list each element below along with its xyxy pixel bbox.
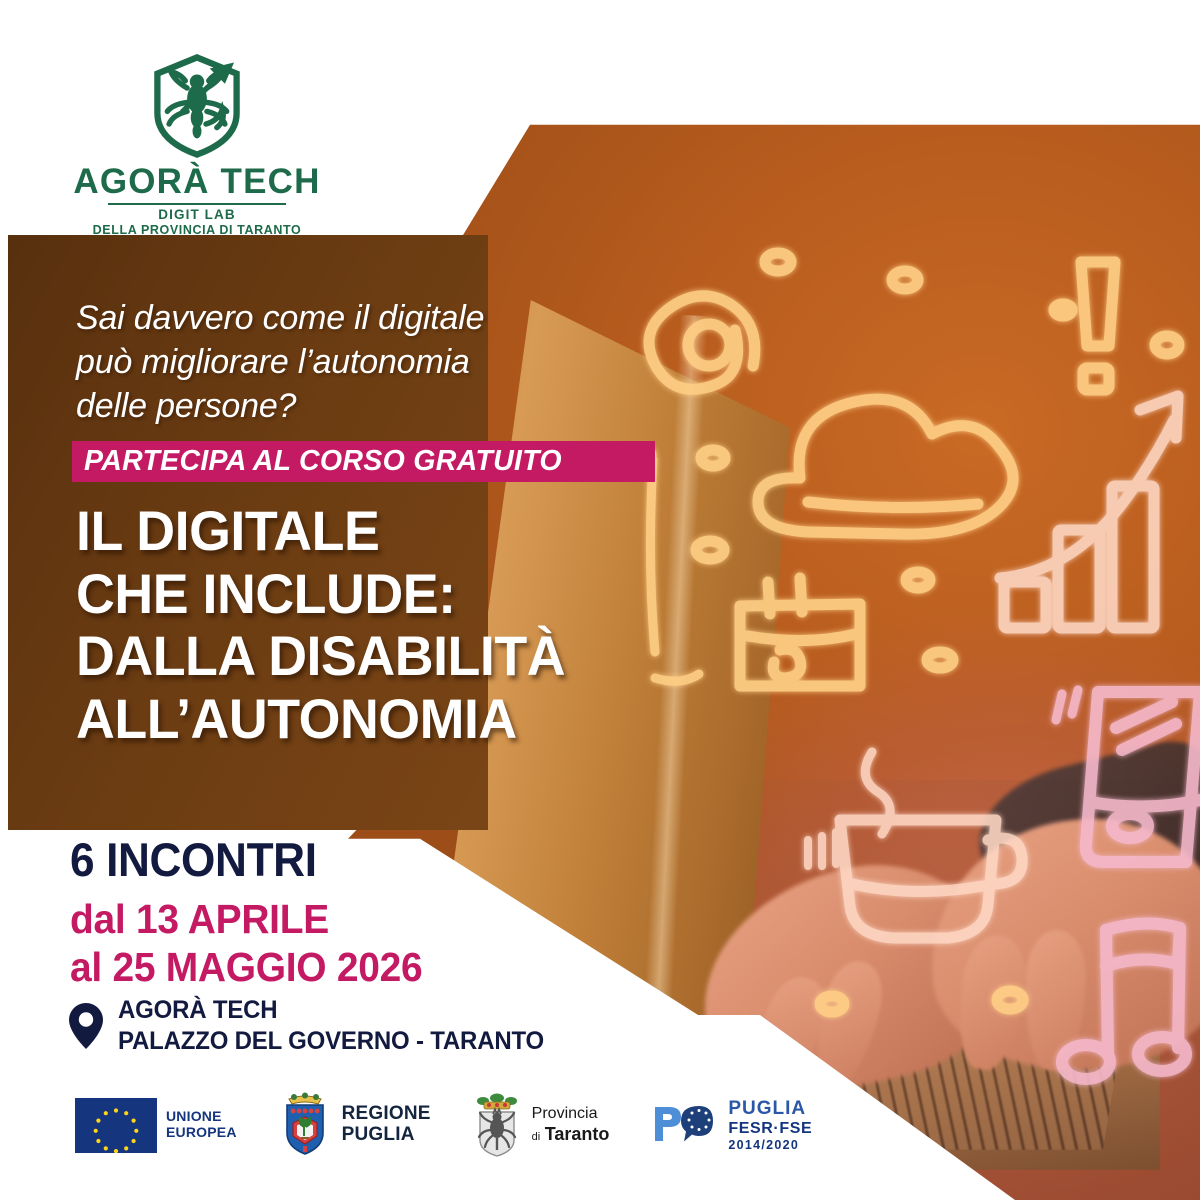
po-line-2: FESR·FSE: [728, 1120, 812, 1138]
provincia-label: Provincia di Taranto: [532, 1105, 610, 1145]
tagline-line-2: può migliorare l’autonomia: [76, 340, 676, 384]
venue-text: AGORÀ TECH PALAZZO DEL GOVERNO - TARANTO: [118, 995, 544, 1056]
map-pin-icon: [68, 1002, 104, 1050]
logo-wordmark: AGORÀ TECH: [72, 164, 322, 199]
venue: AGORÀ TECH PALAZZO DEL GOVERNO - TARANTO: [68, 995, 562, 1056]
date-to: al 25 MAGGIO 2026: [70, 943, 422, 991]
regione-puglia-logo: REGIONE PUGLIA: [277, 1092, 431, 1158]
shield-scorpion-arrow-icon: [143, 52, 251, 160]
agora-tech-logo: AGORÀ TECH DIGIT LAB DELLA PROVINCIA DI …: [72, 52, 322, 238]
ribbon-label: PARTECIPA AL CORSO GRATUITO: [72, 445, 562, 478]
po-line-3: 2014/2020: [728, 1138, 812, 1152]
provincia-taranto-logo: Provincia di Taranto: [471, 1092, 610, 1158]
venue-line-2: PALAZZO DEL GOVERNO - TARANTO: [118, 1026, 544, 1057]
provincia-line-1: Provincia: [532, 1105, 610, 1123]
po-puglia-logo: PUGLIA FESR·FSE 2014/2020: [649, 1097, 812, 1153]
meetings-count: 6 INCONTRI: [70, 836, 317, 883]
title-line-3: DALLA DISABILITÀ: [76, 625, 690, 688]
eu-line-2: EUROPEA: [166, 1125, 237, 1141]
regione-line-1: REGIONE: [342, 1104, 431, 1125]
footer-logos: UNIONE EUROPEA REGIONE: [75, 1092, 812, 1158]
title-line-4: ALL’AUTONOMIA: [76, 688, 690, 751]
title-line-1: IL DIGITALE: [76, 500, 690, 563]
eu-label: UNIONE EUROPEA: [166, 1109, 237, 1140]
page-title: IL DIGITALE CHE INCLUDE: DALLA DISABILIT…: [76, 500, 690, 751]
eu-line-1: UNIONE: [166, 1109, 237, 1125]
date-from: dal 13 APRILE: [70, 895, 422, 943]
event-dates: dal 13 APRILE al 25 MAGGIO 2026: [70, 895, 422, 992]
provincia-line-2-wrap: di Taranto: [532, 1124, 610, 1145]
tagline: Sai davvero come il digitale può miglior…: [76, 296, 676, 429]
provincia-taranto-crest-icon: [471, 1092, 523, 1158]
free-course-ribbon: PARTECIPA AL CORSO GRATUITO: [72, 441, 655, 482]
regione-puglia-crest-icon: [277, 1092, 333, 1158]
tagline-line-3: delle persone?: [76, 384, 676, 428]
logo-subtitle-1: DIGIT LAB: [72, 208, 322, 223]
logo-divider: [108, 203, 286, 205]
eu-flag-icon: [75, 1098, 157, 1153]
regione-line-2: PUGLIA: [342, 1125, 431, 1146]
po-line-1: PUGLIA: [728, 1098, 812, 1119]
tagline-line-1: Sai davvero come il digitale: [76, 296, 676, 340]
po-puglia-logo-icon: [649, 1097, 719, 1153]
poster-canvas: AGORÀ TECH DIGIT LAB DELLA PROVINCIA DI …: [0, 0, 1200, 1200]
title-line-2: CHE INCLUDE:: [76, 563, 690, 626]
venue-line-1: AGORÀ TECH: [118, 995, 544, 1026]
eu-logo: UNIONE EUROPEA: [75, 1098, 237, 1153]
po-label: PUGLIA FESR·FSE 2014/2020: [728, 1098, 812, 1151]
regione-label: REGIONE PUGLIA: [342, 1104, 431, 1146]
provincia-line-2: Taranto: [545, 1124, 610, 1144]
provincia-di: di: [532, 1131, 541, 1143]
logo-subtitle-2: DELLA PROVINCIA DI TARANTO: [72, 223, 322, 238]
